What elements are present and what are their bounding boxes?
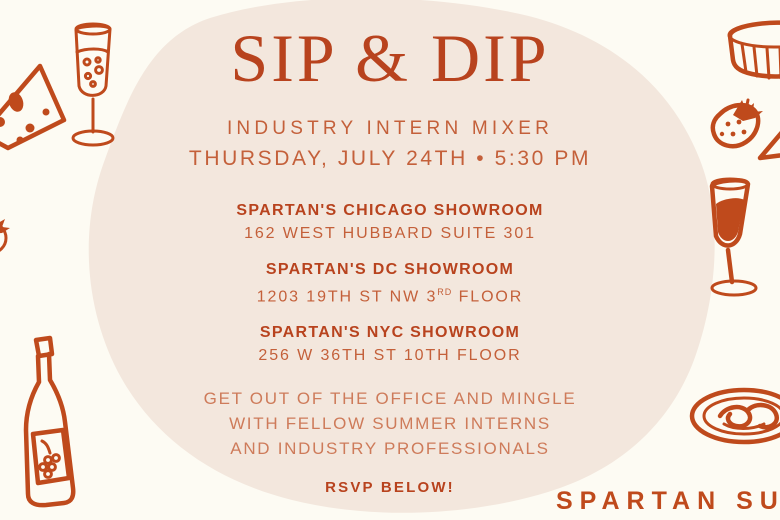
venue-address-text: 162 WEST HUBBARD SUITE 301 xyxy=(244,225,536,242)
event-description: GET OUT OF THE OFFICE AND MINGLE WITH FE… xyxy=(0,386,780,461)
invitation-content: SIP & DIP INDUSTRY INTERN MIXER THURSDAY… xyxy=(0,0,780,520)
description-line-1: GET OUT OF THE OFFICE AND MINGLE xyxy=(0,386,780,411)
brand-wordmark: SPARTAN SURF xyxy=(556,486,780,516)
venue-item: SPARTAN'S DC SHOWROOM 1203 19TH ST NW 3R… xyxy=(0,259,780,308)
event-subtitle: INDUSTRY INTERN MIXER xyxy=(0,116,780,142)
venue-name: SPARTAN'S NYC SHOWROOM xyxy=(0,322,780,344)
venue-address: 256 W 36TH ST 10TH FLOOR xyxy=(0,344,780,367)
invitation-canvas: SIP & DIP INDUSTRY INTERN MIXER THURSDAY… xyxy=(0,0,780,520)
venue-name: SPARTAN'S DC SHOWROOM xyxy=(0,259,780,281)
venue-list: SPARTAN'S CHICAGO SHOWROOM 162 WEST HUBB… xyxy=(0,200,780,381)
venue-address: 162 WEST HUBBARD SUITE 301 xyxy=(0,222,780,245)
venue-item: SPARTAN'S NYC SHOWROOM 256 W 36TH ST 10T… xyxy=(0,322,780,367)
description-line-2: WITH FELLOW SUMMER INTERNS xyxy=(0,411,780,436)
venue-address: 1203 19TH ST NW 3RD FLOOR xyxy=(0,281,780,308)
venue-item: SPARTAN'S CHICAGO SHOWROOM 162 WEST HUBB… xyxy=(0,200,780,245)
page-title: SIP & DIP xyxy=(0,22,780,94)
venue-address-tail: FLOOR xyxy=(452,288,523,305)
venue-address-text: 256 W 36TH ST 10TH FLOOR xyxy=(258,347,521,364)
event-datetime: THURSDAY, JULY 24TH • 5:30 PM xyxy=(0,145,780,173)
venue-name: SPARTAN'S CHICAGO SHOWROOM xyxy=(0,200,780,222)
venue-address-ordinal: RD xyxy=(437,287,452,297)
description-line-3: AND INDUSTRY PROFESSIONALS xyxy=(0,436,780,461)
venue-address-text: 1203 19TH ST NW 3 xyxy=(257,288,438,305)
